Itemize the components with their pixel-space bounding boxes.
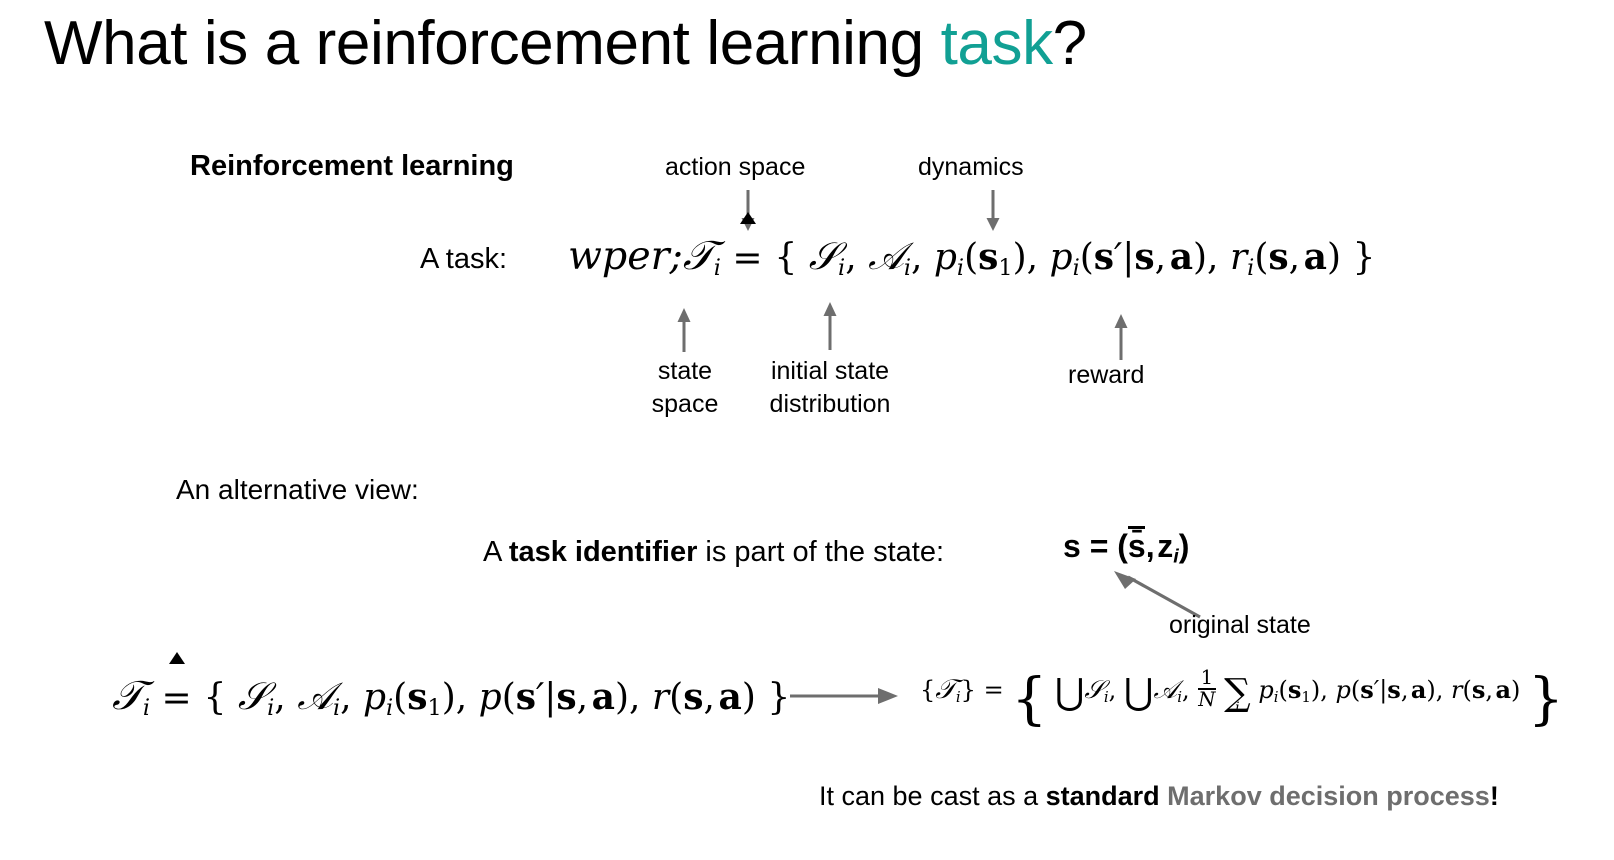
- union-mdp-equation: {𝒯i} = { ⋃𝒮i, ⋃𝒜i, 1N ∑i pi(s1), p(s′|s,…: [920, 668, 1564, 715]
- alternative-view-intro: An alternative view:: [176, 474, 419, 506]
- action-space-label: action space: [665, 153, 805, 182]
- initial-state-distribution-up-arrow: [818, 300, 842, 350]
- conclusion-gray: Markov decision process: [1167, 781, 1490, 811]
- original-state-label: original state: [1169, 611, 1311, 640]
- dynamics-down-arrow: [981, 190, 1005, 232]
- task-identifier-bold: task identifier: [509, 536, 698, 568]
- page-title-accent: task: [941, 9, 1053, 78]
- a-task-prefix: A task:: [420, 243, 507, 276]
- task-identifier-pre: A: [483, 536, 509, 568]
- conclusion-bold: standard: [1046, 781, 1168, 811]
- reinforcement-learning-heading: Reinforcement learning: [190, 150, 514, 183]
- dynamics-label: dynamics: [918, 153, 1024, 182]
- reward-up-arrow: [1109, 312, 1133, 360]
- state-space-label: state space: [634, 355, 736, 420]
- state-decomposition-equation: s = (s̄, zi): [1063, 528, 1189, 569]
- conclusion-pre: It can be cast as a: [819, 781, 1046, 811]
- implies-right-arrow: [790, 682, 900, 710]
- state-space-up-arrow: [672, 306, 696, 352]
- page-title: What is a reinforcement learning task?: [44, 8, 1087, 79]
- conclusion-tail: !: [1490, 781, 1499, 811]
- task-definition-shared-equation: 𝒯i = { 𝒮i, 𝒜i, pi(s1), p(s′|s, a), r(s, …: [112, 672, 790, 721]
- conclusion-sentence: It can be cast as a standard Markov deci…: [819, 781, 1499, 812]
- page-title-tail: ?: [1053, 9, 1087, 78]
- task-identifier-post: is part of the state:: [697, 536, 944, 568]
- initial-state-distribution-label: initial state distribution: [744, 355, 916, 420]
- page-title-main: What is a reinforcement learning: [44, 9, 941, 78]
- reward-label: reward: [1068, 361, 1144, 390]
- task-identifier-sentence: A task identifier is part of the state:: [483, 536, 944, 569]
- task-definition-equation: wper;𝒯i = { 𝒮i, 𝒜i, pi(s1), pi(s′|s, a),…: [568, 232, 1375, 281]
